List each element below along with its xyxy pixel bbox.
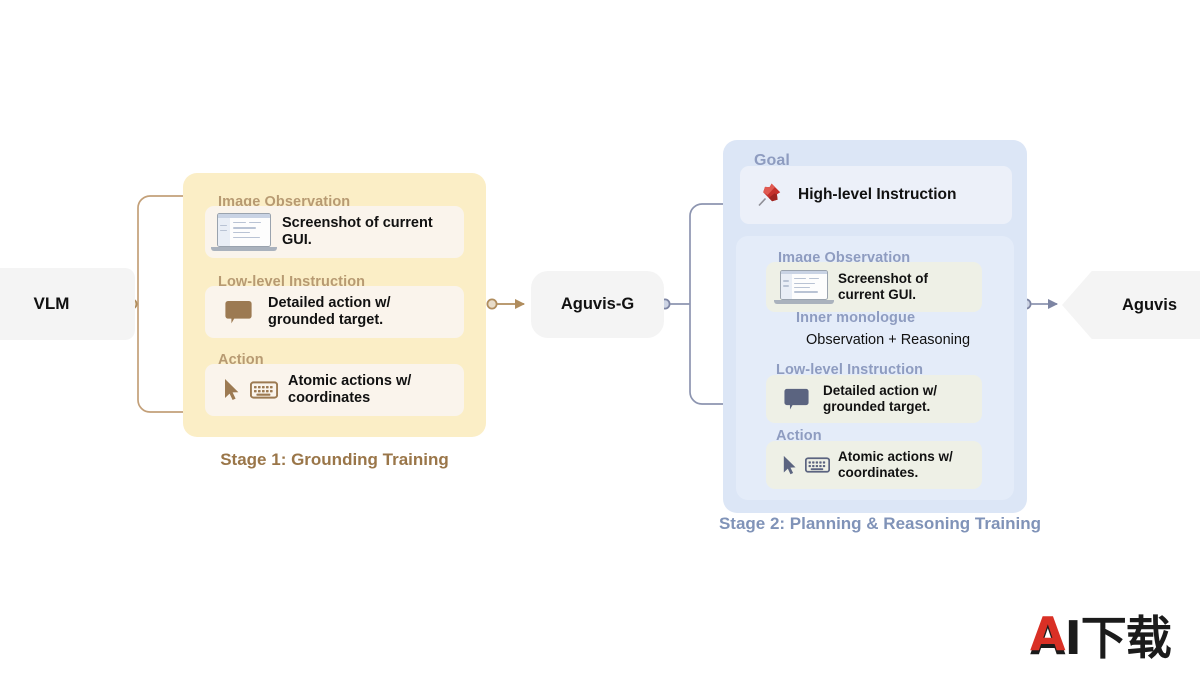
watermark-red-a-overlay: A <box>1030 611 1065 657</box>
speech-bubble-icon <box>784 388 809 411</box>
stage2-caption: Stage 2: Planning & Reasoning Training <box>700 514 1060 534</box>
node-aguvis-g[interactable]: Aguvis-G <box>531 271 664 338</box>
stage2-card-title-inner-monologue: Inner monologue <box>796 310 915 326</box>
stage2-card-text-action: Atomic actions w/ coordinates. <box>838 449 953 481</box>
stage2-goal-card[interactable]: High-level Instruction <box>740 166 1012 224</box>
stage1-card-action[interactable]: Atomic actions w/ coordinates <box>205 364 464 416</box>
stage1-card-text-low-level-instruction: Detailed action w/ grounded target. <box>268 295 390 329</box>
stage2-card-action[interactable]: Atomic actions w/ coordinates. <box>766 441 982 489</box>
stage1-caption: Stage 1: Grounding Training <box>183 450 486 470</box>
keyboard-icon <box>250 380 278 400</box>
node-aguvis[interactable]: Aguvis <box>1062 271 1200 339</box>
stage2-goal-text: High-level Instruction <box>798 186 956 204</box>
stage2-card-low-level-instruction[interactable]: Detailed action w/ grounded target. <box>766 375 982 423</box>
pushpin-icon <box>754 180 784 210</box>
diagram-canvas: VLM Image Observation <box>0 0 1200 675</box>
cursor-icon <box>782 455 797 476</box>
laptop-screenshot-icon <box>780 270 828 305</box>
stage2-card-image-observation[interactable]: Screenshot of current GUI. <box>766 262 982 312</box>
stage2-card-text-image-observation: Screenshot of current GUI. <box>838 271 928 303</box>
stage2-card-text-inner-monologue: Observation + Reasoning <box>806 332 970 348</box>
watermark: AI下载 A <box>1030 615 1171 661</box>
stage1-card-text-action: Atomic actions w/ coordinates <box>288 373 411 407</box>
node-aguvis-g-label: Aguvis-G <box>561 295 634 314</box>
keyboard-icon <box>805 456 830 474</box>
node-aguvis-label: Aguvis <box>1122 296 1177 315</box>
laptop-screenshot-icon <box>217 213 271 252</box>
stage2-card-text-low-level-instruction: Detailed action w/ grounded target. <box>823 383 937 415</box>
stage1-card-image-observation[interactable]: Screenshot of current GUI. <box>205 206 464 258</box>
speech-bubble-icon <box>225 300 252 325</box>
node-vlm-label: VLM <box>34 294 70 314</box>
node-vlm[interactable]: VLM <box>0 268 135 340</box>
stage1-card-text-image-observation: Screenshot of current GUI. <box>282 215 433 249</box>
stage2-card-inner-monologue[interactable]: Observation + Reasoning <box>806 331 1006 349</box>
stage1-card-low-level-instruction[interactable]: Detailed action w/ grounded target. <box>205 286 464 338</box>
cursor-icon <box>223 378 240 402</box>
